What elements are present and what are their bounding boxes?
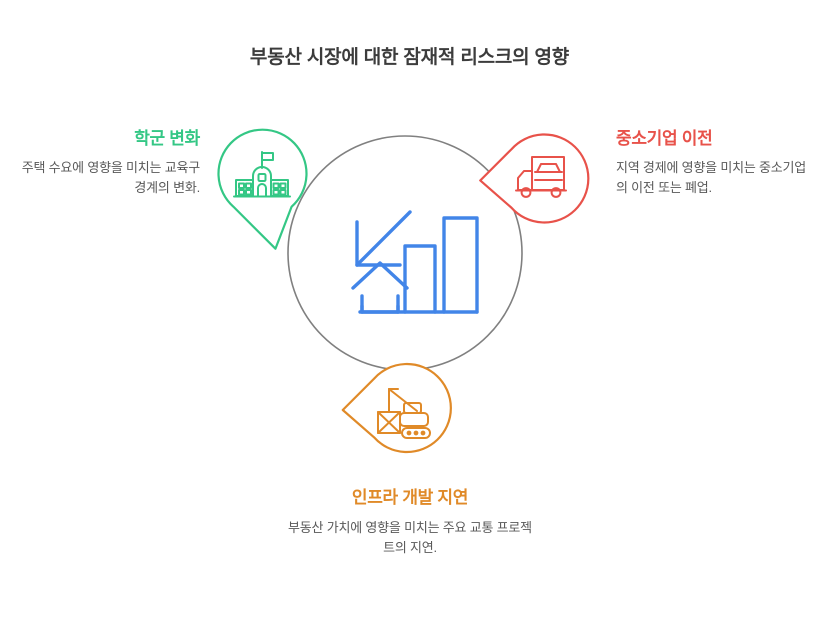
infographic-canvas: 부동산 시장에 대한 잠재적 리스크의 영향 xyxy=(0,0,819,638)
node-text-sme-relocation: 중소기업 이전 지역 경제에 영향을 미치는 중소기업의 이전 또는 폐업. xyxy=(616,128,812,199)
node-description-infrastructure-delay: 부동산 가치에 영향을 미치는 주요 교통 프로젝트의 지연. xyxy=(285,518,535,558)
teardrop-shape-orange xyxy=(343,346,469,472)
node-heading-infrastructure-delay: 인프라 개발 지연 xyxy=(285,487,535,508)
node-text-school-district: 학군 변화 주택 수요에 영향을 미치는 교육구 경계의 변화. xyxy=(10,128,200,199)
node-description-school-district: 주택 수요에 영향을 미치는 교육구 경계의 변화. xyxy=(10,158,200,198)
node-marker-infrastructure-delay[interactable] xyxy=(343,346,469,472)
node-description-sme-relocation: 지역 경제에 영향을 미치는 중소기업의 이전 또는 폐업. xyxy=(616,158,812,198)
node-text-infrastructure-delay: 인프라 개발 지연 부동산 가치에 영향을 미치는 주요 교통 프로젝트의 지연… xyxy=(285,487,535,559)
node-heading-school-district: 학군 변화 xyxy=(10,128,200,149)
node-heading-sme-relocation: 중소기업 이전 xyxy=(616,128,812,149)
